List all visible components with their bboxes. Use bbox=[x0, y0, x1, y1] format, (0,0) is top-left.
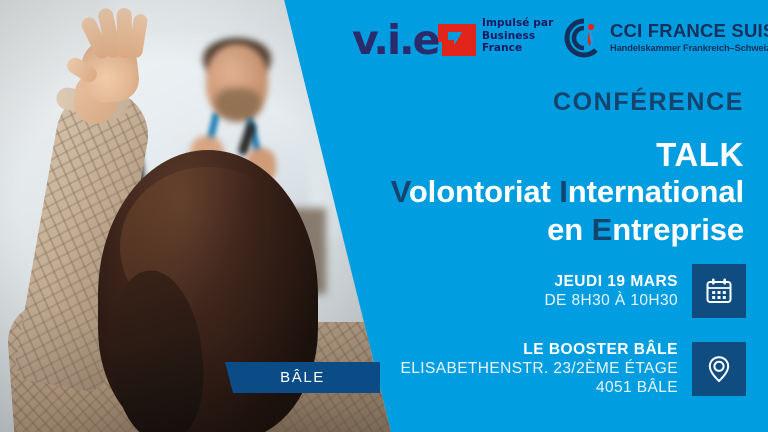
event-place-block: LE BOOSTER BÂLE ELISABETHENSTR. 23/2ÈME … bbox=[401, 340, 746, 397]
event-date-secondary: DE 8H30 À 10H30 bbox=[544, 291, 678, 310]
page-title-line-2: en Entreprise bbox=[547, 212, 744, 248]
event-place-line2: ELISABETHENSTR. 23/2ÈME ÉTAGE bbox=[401, 359, 678, 378]
page-title-line-1: Volontoriat International bbox=[391, 174, 744, 210]
vie-tagline-line3: France bbox=[482, 42, 553, 55]
title-rest-international: nternational bbox=[568, 174, 744, 209]
event-poster: BÂLE v.i.e Impulsé par Business France bbox=[0, 0, 768, 432]
vie-wordmark: v.i.e bbox=[352, 18, 438, 62]
title-rest-volontoriat: olontoriat bbox=[409, 174, 559, 209]
event-place-line3: 4051 BÂLE bbox=[401, 378, 678, 397]
event-date-text: JEUDI 19 MARS DE 8H30 À 10H30 bbox=[544, 272, 678, 310]
vie-tagline-line2: Business bbox=[482, 30, 553, 43]
cci-subtitle: Handelskammer Frankreich–Schweiz bbox=[610, 43, 768, 53]
title-initial-v: V bbox=[391, 174, 409, 209]
calendar-icon-box bbox=[692, 264, 746, 318]
title-initial-e: E bbox=[592, 212, 613, 247]
title-initial-i: I bbox=[559, 174, 568, 209]
calendar-icon bbox=[704, 276, 734, 306]
map-pin-icon bbox=[704, 354, 734, 384]
arrow-up-right-icon bbox=[438, 22, 476, 60]
vie-logo: v.i.e bbox=[352, 18, 460, 62]
cci-logo: CCI FRANCE SUISSE Handelskammer Frankrei… bbox=[564, 18, 754, 66]
event-place-primary: LE BOOSTER BÂLE bbox=[401, 340, 678, 359]
city-badge: BÂLE bbox=[225, 362, 380, 393]
title-rest-entreprise: ntreprise bbox=[612, 212, 744, 247]
logo-row: v.i.e Impulsé par Business France CCI FR… bbox=[352, 12, 752, 74]
vie-tagline-line1: Impulsé par bbox=[482, 17, 553, 30]
vie-tagline: Impulsé par Business France bbox=[482, 17, 553, 55]
page-kicker: CONFÉRENCE bbox=[553, 88, 744, 117]
event-date-block: JEUDI 19 MARS DE 8H30 À 10H30 bbox=[544, 264, 746, 318]
event-place-text: LE BOOSTER BÂLE ELISABETHENSTR. 23/2ÈME … bbox=[401, 340, 678, 397]
map-pin-icon-box bbox=[692, 342, 746, 396]
cci-circle-icon bbox=[564, 18, 604, 58]
city-badge-label: BÂLE bbox=[280, 369, 325, 386]
page-talk-label: TALK bbox=[656, 136, 744, 174]
event-date-primary: JEUDI 19 MARS bbox=[544, 272, 678, 291]
title-prefix-en: en bbox=[547, 212, 592, 247]
cci-name: CCI FRANCE SUISSE bbox=[610, 20, 768, 42]
